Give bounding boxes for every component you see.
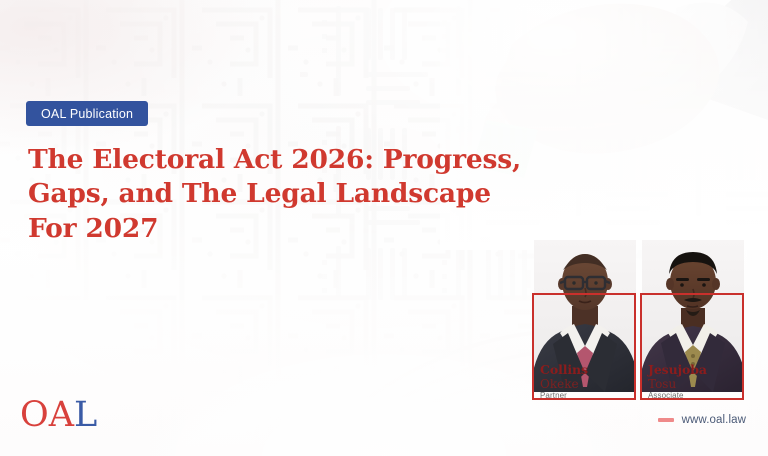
website-url-label: www.oal.law [682,414,746,426]
author-last-name: Tosu [648,378,707,390]
page-title-line-3: For 2027 [28,212,498,246]
author-first-name: Jesujoba [648,364,707,377]
page-title-line-2: Gaps, and The Legal Landscape [28,177,498,211]
oal-logo: OAL [20,398,97,433]
publication-badge: OAL Publication [26,101,148,126]
dash-icon [658,418,674,422]
website-url[interactable]: www.oal.law [658,414,746,426]
author-card-collins-okeke: Collins Okeke Partner [532,236,638,406]
author-role: Associate [648,392,707,400]
author-role: Partner [540,392,588,400]
page-title-line-1: The Electoral Act 2026: Progress, [28,143,498,177]
publication-banner: OAL Publication The Electoral Act 2026: … [0,0,768,456]
publication-badge-label: OAL Publication [41,107,133,121]
author-first-name: Collins [540,364,588,377]
author-caption: Collins Okeke Partner [540,364,588,400]
author-card-jesujoba-tosu: Jesujoba Tosu Associate [640,236,746,406]
oal-logo-accent: L [74,395,97,435]
oal-logo-primary: OA [20,395,74,435]
author-portraits: Collins Okeke Partner [520,236,750,408]
author-last-name: Okeke [540,378,588,390]
page-title: The Electoral Act 2026: Progress, Gaps, … [28,143,498,246]
author-caption: Jesujoba Tosu Associate [648,364,707,400]
